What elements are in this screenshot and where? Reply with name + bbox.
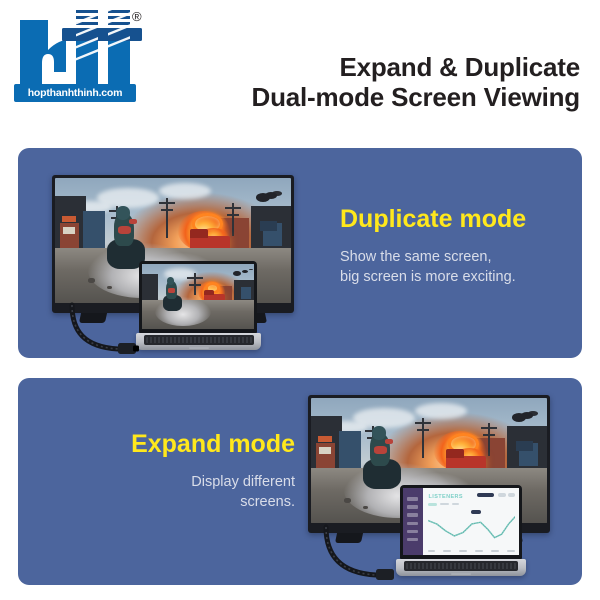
dashboard-app: LISTENERS [403,488,519,555]
expand-laptop-screen: LISTENERS [403,488,519,555]
laptop-trackpad [189,347,209,349]
expand-laptop: LISTENERS [396,485,526,576]
game-scene-laptop-duplicate [142,264,254,329]
page-title: Expand & Duplicate Dual-mode Screen View… [160,52,580,113]
registered-trademark-icon: ® [132,10,142,23]
laptop-trackpad [451,573,472,575]
duplicate-mode-desc-line2: big screen is more exciting. [340,267,572,287]
dashboard-primary-pill[interactable] [477,493,494,498]
page-title-line2: Dual-mode Screen Viewing [160,82,580,113]
dashboard-pill-3[interactable] [508,493,515,496]
duplicate-mode-desc: Show the same screen, big screen is more… [340,247,572,287]
laptop-keyboard [404,561,518,570]
duplicate-laptop-base [136,333,261,350]
dashboard-tab-1[interactable] [428,503,438,506]
brand-website-plate: hopthanhthinh.com [14,84,136,102]
duplicate-mode-desc-line1: Show the same screen, [340,247,572,267]
dashboard-pill-2[interactable] [498,493,507,496]
brand-logo: hopthanhthinh.com ® [14,6,160,116]
duplicate-device-group [52,175,310,355]
dashboard-tab-2[interactable] [440,503,449,506]
page-title-line1: Expand & Duplicate [160,52,580,82]
expand-device-group: LISTENERS [308,395,570,580]
header: hopthanhthinh.com ® Expand & Duplicate D… [0,0,600,148]
dashboard-content: LISTENERS [423,488,519,555]
dashboard-sidebar[interactable] [403,488,423,555]
expand-mode-desc-line1: Display different [30,472,295,492]
tv-leg-left [79,313,107,323]
tv-leg-left [335,533,363,543]
poster-root: hopthanhthinh.com ® Expand & Duplicate D… [0,0,600,600]
duplicate-mode-title: Duplicate mode [340,205,572,234]
expand-mode-title: Expand mode [30,430,295,459]
dashboard-line-chart [428,512,516,546]
expand-mode-desc: Display different screens. [30,472,295,512]
dashboard-tab-3[interactable] [452,503,460,506]
brand-website: hopthanhthinh.com [28,87,123,99]
laptop-keyboard [144,335,254,344]
duplicate-laptop [136,261,261,350]
expand-mode-text: Expand mode Display different screens. [30,430,295,512]
duplicate-mode-text: Duplicate mode Show the same screen, big… [340,205,572,287]
expand-laptop-base [396,559,526,576]
dashboard-axis-labels [428,550,516,552]
duplicate-laptop-screen [142,264,254,329]
expand-mode-desc-line2: screens. [30,492,295,512]
